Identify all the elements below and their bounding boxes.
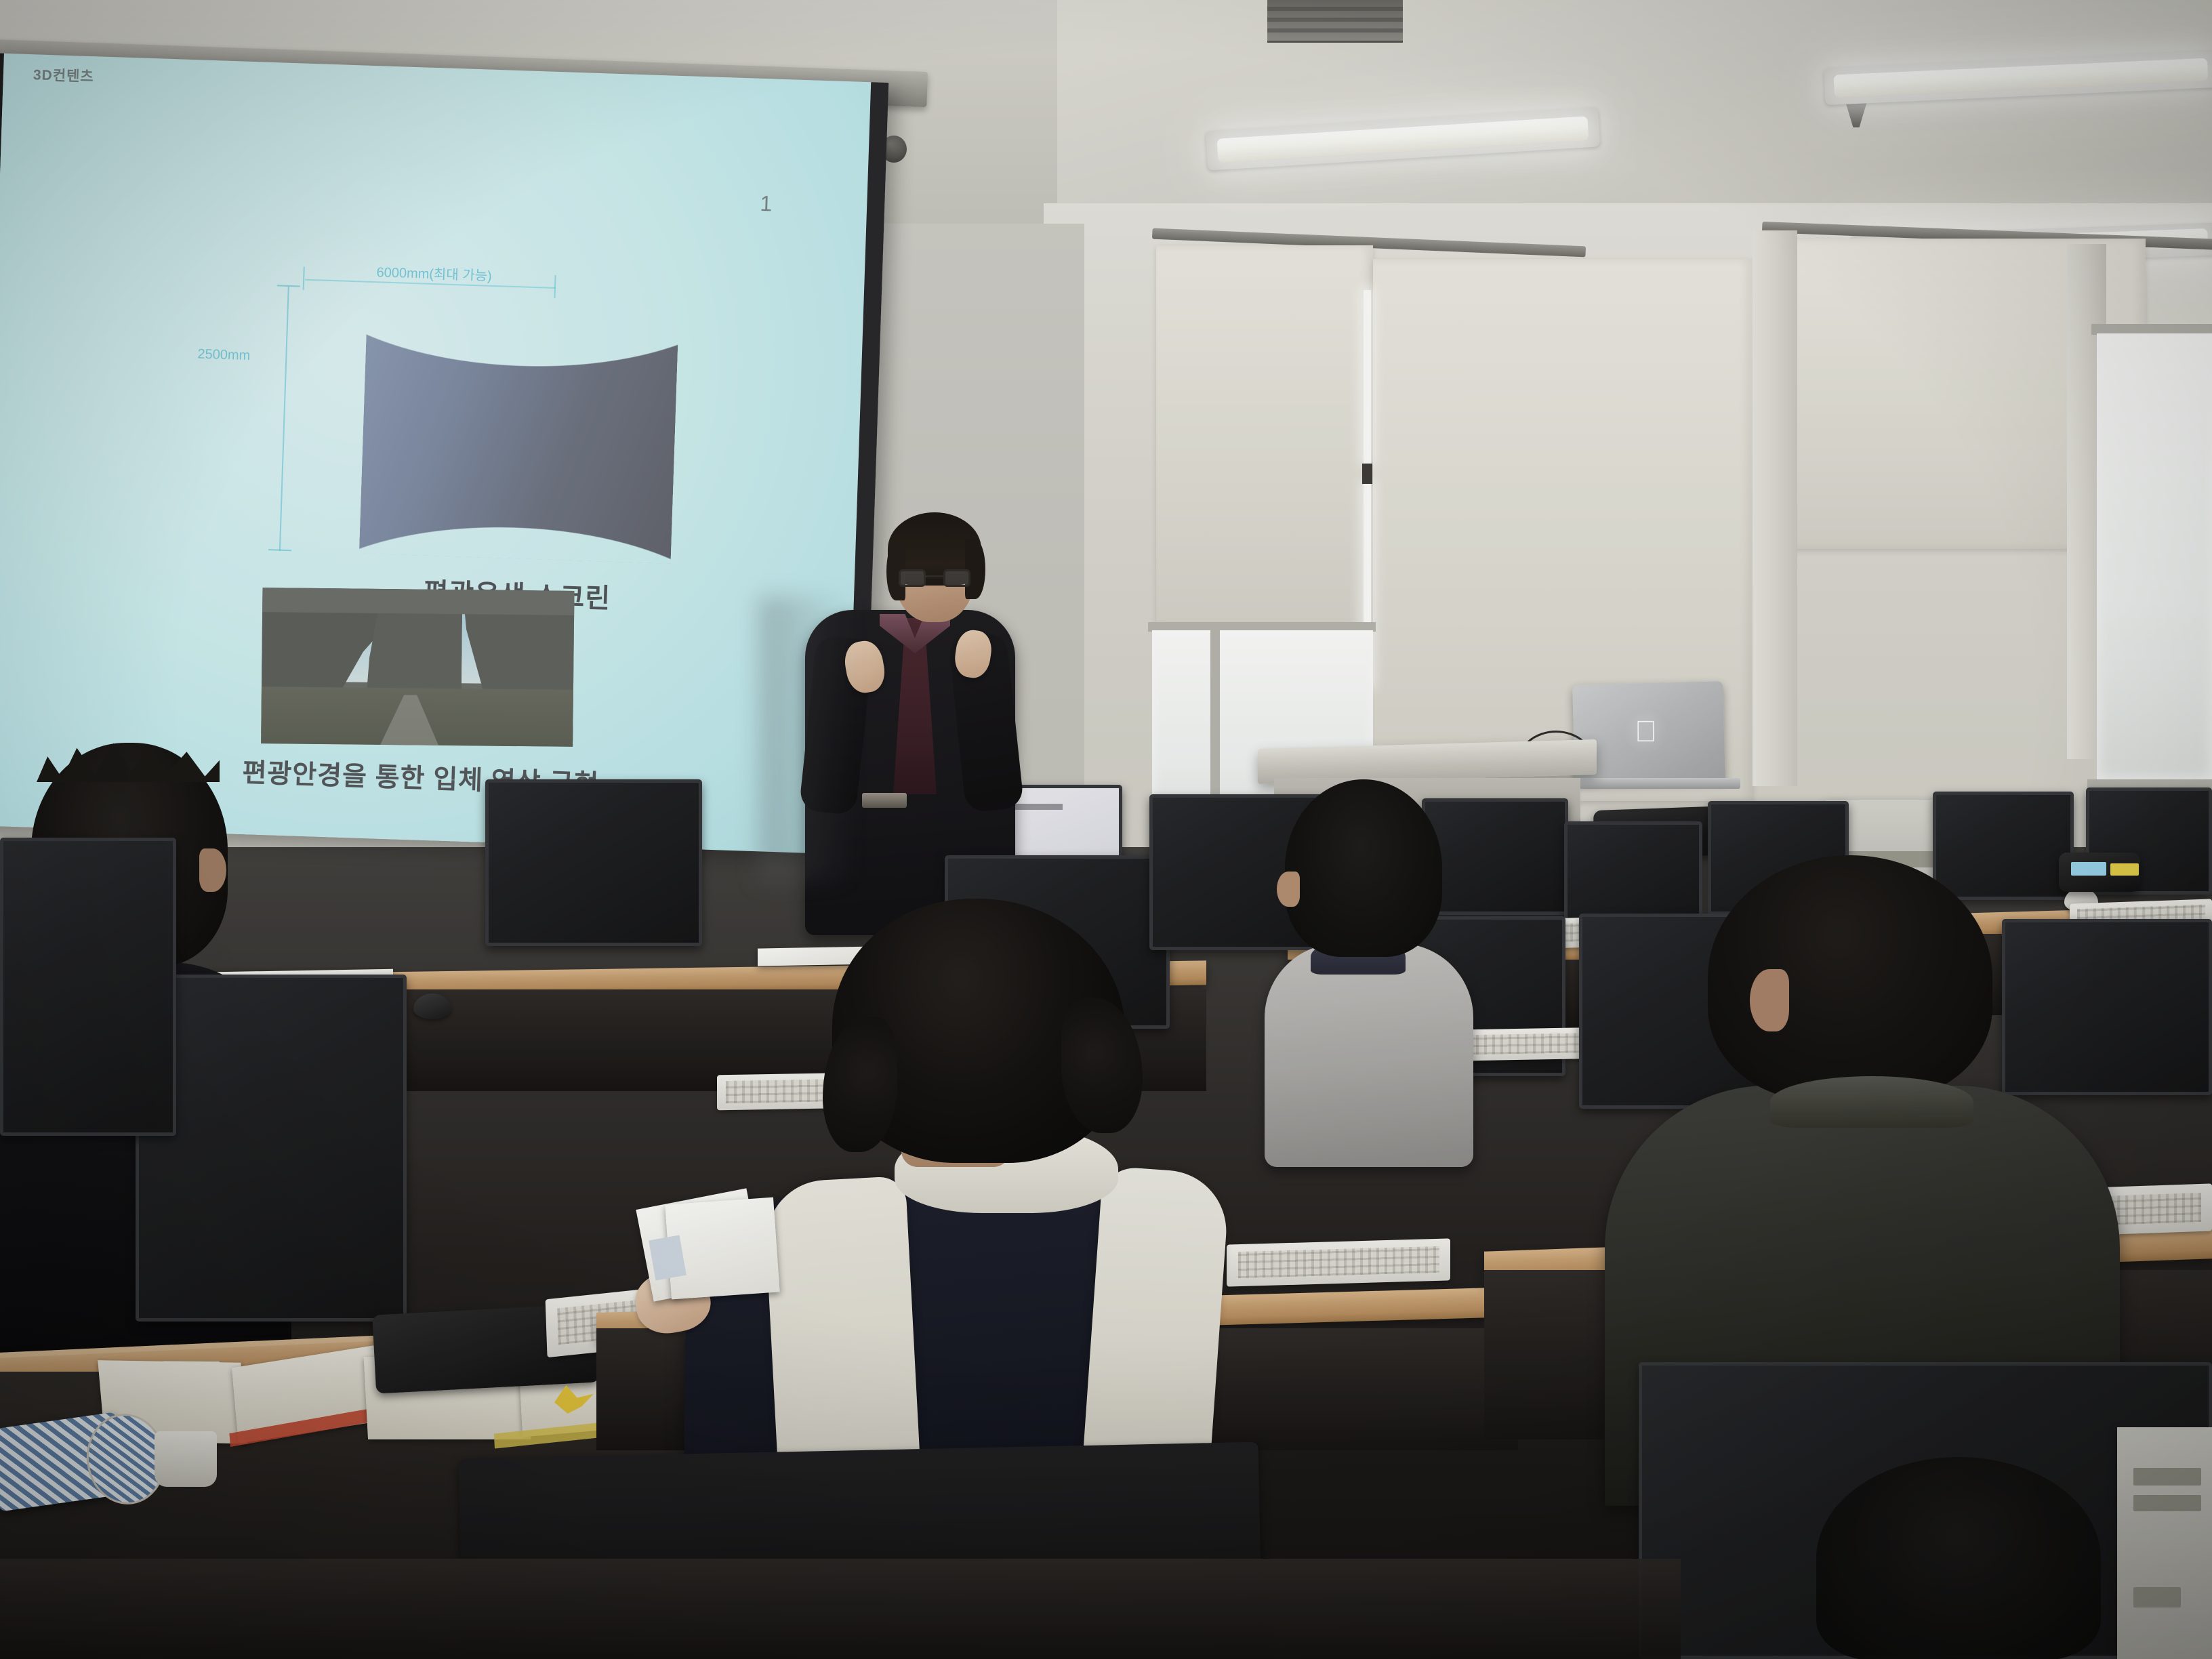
student-bottom-right-hair — [1816, 1457, 2101, 1659]
student-left-front-ear — [199, 848, 226, 892]
projected-slide: 3D컨텐츠 1 6000mm(최대 가능) 2500mm 편광은색 스크린 편광 — [0, 54, 871, 855]
monitor-right-front-2[interactable] — [2002, 919, 2212, 1095]
pc-tower-bay-3 — [2133, 1587, 2181, 1607]
macbook-base[interactable] — [1559, 778, 1740, 789]
slide-curved-screen-graphic — [359, 330, 678, 564]
glasses-lens-right — [943, 569, 970, 587]
student-right-ear — [1750, 969, 1789, 1031]
student-middle-gray-ear — [1277, 872, 1300, 907]
monitor-screen — [2002, 919, 2212, 1095]
student-middle-gray-jacket — [1265, 943, 1473, 1167]
window-glass-right — [2097, 333, 2212, 779]
slide-left-dimension-tick-bottom — [268, 549, 291, 551]
projection-screen: 3D컨텐츠 1 6000mm(최대 가능) 2500mm 편광은색 스크린 편광 — [0, 53, 888, 855]
student-right-hair — [1708, 855, 1992, 1101]
monitor-screen — [136, 975, 407, 1322]
pc-tower-bay-2 — [2133, 1495, 2201, 1511]
desk-foreground-shadow — [0, 1559, 1681, 1659]
student-middle-gray-hair — [1285, 779, 1442, 957]
slide-left-dimension-label: 2500mm — [197, 347, 251, 365]
slide-top-dimension-tick-left — [303, 267, 305, 290]
presenter-belt — [862, 793, 907, 808]
monitor-lit-content-line — [1011, 804, 1063, 810]
monitor-back-mid1[interactable] — [1422, 798, 1568, 915]
monitor-mid-1[interactable] — [485, 779, 702, 946]
equipment-label-sticker — [2071, 862, 2106, 876]
student-right-collar — [1770, 1076, 1973, 1128]
monitor-back-r2[interactable] — [1933, 792, 2074, 900]
keyboard-keys — [1238, 1246, 1439, 1278]
glasses-lens-left — [899, 569, 926, 587]
presenter-shadow-on-wall — [759, 596, 854, 881]
slide-header-text: 3D컨텐츠 — [33, 64, 95, 86]
monitor-screen — [485, 779, 702, 946]
ceiling-vent-icon — [1267, 0, 1403, 43]
window-blind-1 — [1156, 245, 1373, 626]
apple-logo-icon:  — [1635, 717, 1657, 747]
glasses-bridge — [926, 575, 943, 577]
equipment-label-sticker-yellow — [2110, 863, 2139, 876]
slide-forest-photo — [261, 588, 574, 747]
monitor-screen — [0, 838, 176, 1136]
small-white-bowl — [155, 1431, 217, 1487]
pc-tower-bay-1 — [2133, 1468, 2201, 1486]
student-center-woman-papers-2 — [665, 1197, 779, 1300]
monitor-front-left[interactable] — [136, 975, 407, 1322]
classroom-photo: 3D컨텐츠 1 6000mm(최대 가능) 2500mm 편광은색 스크린 편광 — [0, 0, 2212, 1659]
keyboard-center[interactable] — [1227, 1238, 1450, 1286]
slide-top-dimension-tick-right — [554, 275, 556, 298]
slide-top-dimension-label: 6000mm(최대 가능) — [376, 261, 492, 285]
monitor-screen — [1933, 792, 2074, 900]
pc-tower-bottom-right — [2117, 1427, 2212, 1659]
blind-light-gap — [1364, 290, 1371, 464]
wall-pillar — [1753, 230, 1797, 786]
mouse-mid-left[interactable] — [413, 994, 451, 1019]
monitor-screen — [1422, 798, 1568, 915]
slide-page-number: 1 — [760, 191, 773, 217]
photo-top-band — [262, 588, 574, 615]
presenter-glasses-icon — [899, 569, 970, 587]
monitor-front-left-2[interactable] — [0, 838, 176, 1136]
slide-left-dimension-line — [279, 287, 289, 551]
blind-gap-bracket — [1362, 464, 1372, 484]
